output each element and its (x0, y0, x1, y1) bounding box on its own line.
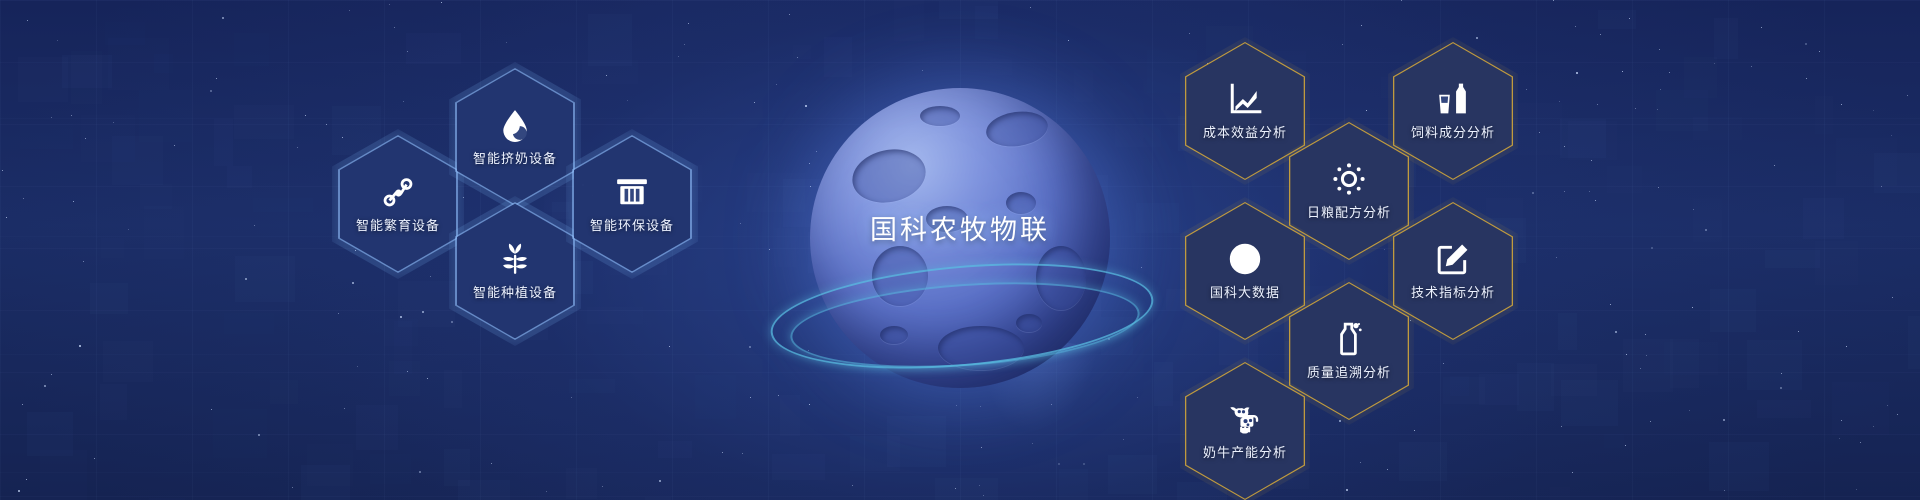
hex-label: 日粮配方分析 (1307, 202, 1391, 221)
line-chart-icon (1228, 82, 1262, 116)
hex-label: 技术指标分析 (1411, 282, 1495, 301)
center-globe: 国科农牧物联 (795, 88, 1125, 388)
hex-label: 奶牛产能分析 (1203, 442, 1287, 461)
milk-bottle-icon (1332, 322, 1366, 356)
plant-leaf-icon (498, 242, 532, 276)
hex-label: 成本效益分析 (1203, 122, 1287, 141)
sun-icon (1332, 162, 1366, 196)
hex-label: 国科大数据 (1210, 282, 1280, 301)
hex-item-trash-bin[interactable]: 智能环保设备 (572, 135, 692, 273)
hex-item-water-drop[interactable]: 智能挤奶设备 (455, 68, 575, 206)
hex-label: 饲料成分分析 (1411, 122, 1495, 141)
hex-item-cow[interactable]: 奶牛产能分析 (1185, 362, 1305, 500)
edit-pencil-icon (1436, 242, 1470, 276)
milk-bottle-glass-icon (1436, 82, 1470, 116)
hex-label: 智能挤奶设备 (473, 148, 557, 167)
hex-item-plant-leaf[interactable]: 智能种植设备 (455, 202, 575, 340)
page-title: 国科农牧物联 (795, 208, 1125, 247)
hex-label: 质量追溯分析 (1307, 362, 1391, 381)
hex-label: 智能种植设备 (473, 282, 557, 301)
cow-icon (1228, 402, 1262, 436)
hero-banner: 国科农牧物联 智能繁育设备智能挤奶设备智能种植设备智能环保设备成本效益分析饲料成… (0, 0, 1920, 500)
pie-chart-icon (1228, 242, 1262, 276)
hex-label: 智能繁育设备 (356, 215, 440, 234)
water-drop-icon (498, 108, 532, 142)
hex-label: 智能环保设备 (590, 215, 674, 234)
crater (920, 106, 960, 126)
node-network-icon (381, 175, 415, 209)
trash-bin-icon (615, 175, 649, 209)
hex-item-node-network[interactable]: 智能繁育设备 (338, 135, 458, 273)
